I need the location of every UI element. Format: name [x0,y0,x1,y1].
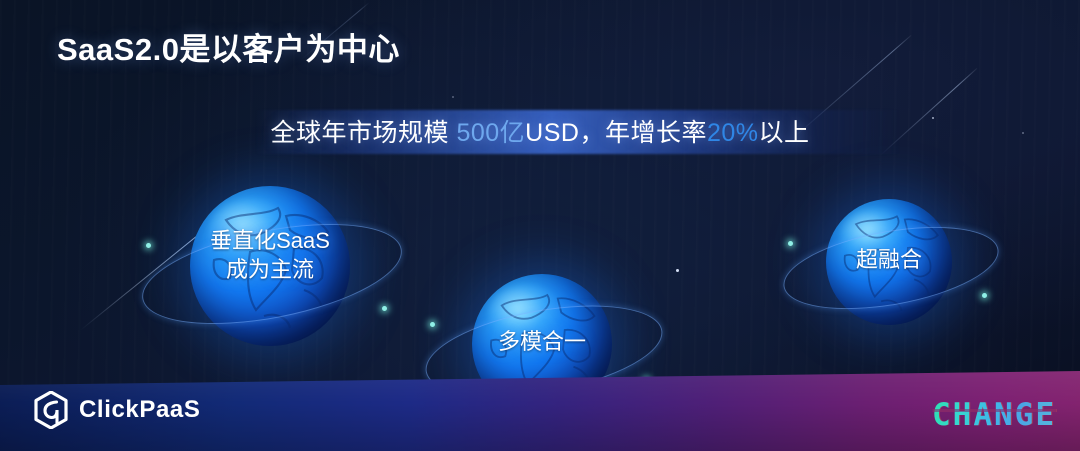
hexagon-leaf-icon [34,391,68,429]
presentation-slide: SaaS2.0是以客户为中心 全球年市场规模 500亿USD，年增长率20%以上… [0,0,1080,451]
subtitle: 全球年市场规模 500亿USD，年增长率20%以上 [0,113,1080,149]
campaign-logo: CHANGE [932,397,1056,433]
orbit-node-icon [982,293,987,298]
globe-item-vertical-saas[interactable]: 垂直化SaaS 成为主流 [190,186,350,346]
brand-logo[interactable]: ClickPaaS [34,391,200,429]
orbit-node-icon [146,243,151,248]
star-icon [452,96,454,98]
subtitle-tail: 以上 [759,119,810,147]
orbit-node-icon [382,306,387,311]
globe-item-hyper-convergence[interactable]: 超融合 [826,199,952,325]
orbit-node-icon [430,322,435,327]
star-icon [676,269,679,272]
subtitle-middle: USD，年增长率 [525,119,707,147]
page-title: SaaS2.0是以客户为中心 [57,24,400,69]
orbit-node-icon [788,241,793,246]
subtitle-lead: 全球年市场规模 [270,119,456,147]
brand-name: ClickPaaS [79,396,200,424]
subtitle-growth-rate: 20% [707,119,759,147]
subtitle-market-size: 500亿 [456,119,525,147]
